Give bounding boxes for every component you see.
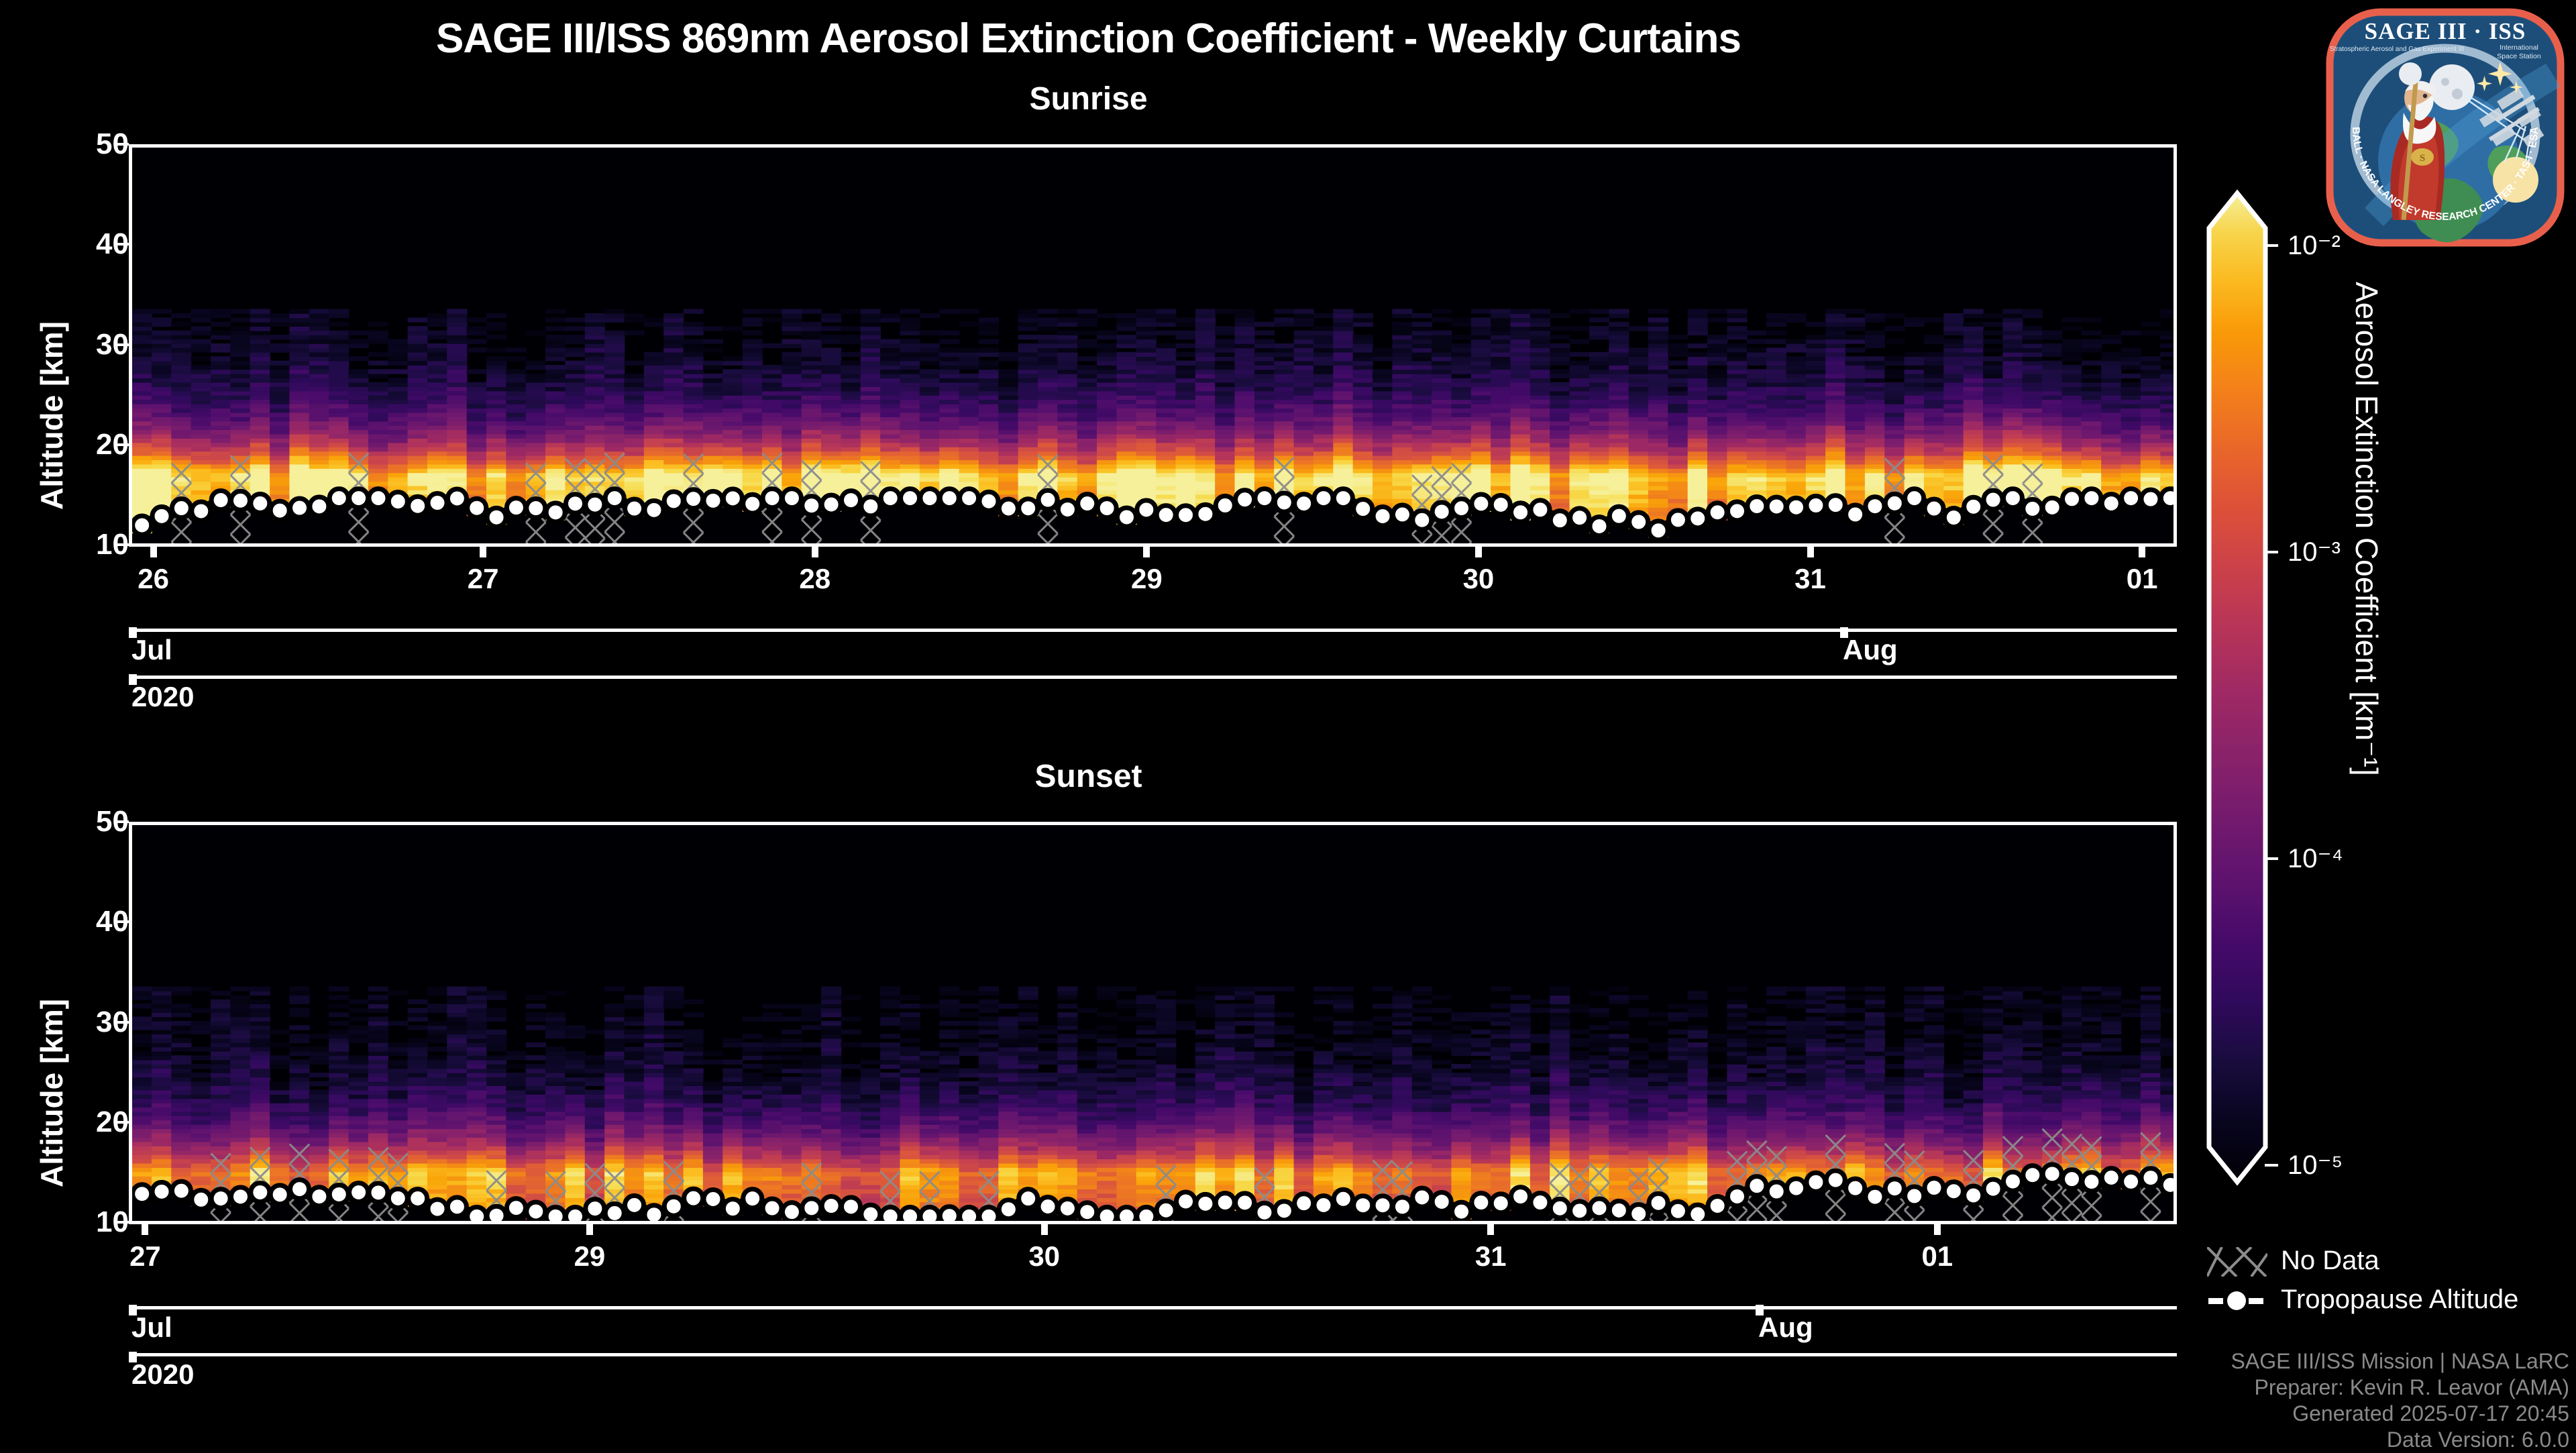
colorbar-tick-mark [2265, 857, 2278, 860]
y-tick-mark [117, 143, 129, 146]
y-tick-mark [117, 1221, 129, 1224]
footer-line-generated: Generated 2025-07-17 20:45 [1905, 1401, 2569, 1427]
x-tick-mark [1475, 547, 1482, 557]
footer-line-preparer: Preparer: Kevin R. Leavor (AMA) [1905, 1375, 2569, 1401]
footer-credits: SAGE III/ISS Mission | NASA LaRC Prepare… [1905, 1348, 2569, 1453]
colorbar-tick-mark [2265, 551, 2278, 553]
x-tick-label: 01 [2127, 563, 2158, 595]
year-band-line-sunset [129, 1353, 2177, 1356]
colorbar[interactable] [2204, 188, 2271, 1187]
month-band-line-sunrise [129, 629, 2177, 632]
x-tick-label: 27 [468, 563, 499, 595]
y-tick-mark [117, 1021, 129, 1024]
y-tick-label: 10 [11, 528, 129, 561]
panel-sunset: Sunset Altitude [km] 50 40 30 20 10 2729… [0, 758, 2177, 1429]
x-tick-label: 31 [1475, 1240, 1507, 1273]
colorbar-tick-mark [2265, 244, 2278, 247]
x-tick-mark [1041, 1224, 1048, 1235]
y-tick-label: 30 [11, 328, 129, 362]
tropopause-swatch-icon [2207, 1286, 2267, 1315]
no-data-swatch-icon [2207, 1247, 2267, 1277]
year-band-line-sunrise [129, 676, 2177, 679]
x-tick-mark [2139, 547, 2145, 557]
footer-line-mission: SAGE III/ISS Mission | NASA LaRC [1905, 1348, 2569, 1375]
x-tick-mark [586, 1224, 593, 1235]
panel-title-sunrise: Sunrise [0, 80, 2177, 117]
y-tick-label: 50 [11, 805, 129, 839]
panel-sunrise: Sunrise Altitude [km] 50 40 30 20 10 262… [0, 80, 2177, 751]
sage-iii-iss-mission-logo: S SAGE III · ISS Stratospheric Aerosol a… [2324, 7, 2566, 248]
y-tick-label: 10 [11, 1205, 129, 1239]
x-axis-sunrise: 26272829303101 Jul Aug 2020 [129, 547, 2177, 748]
colorbar-tick-mark [2265, 1164, 2278, 1167]
plot-area-sunrise[interactable] [129, 144, 2177, 547]
month-label-aug: Aug [1843, 634, 1898, 666]
y-tick-label: 20 [11, 1106, 129, 1139]
month-band-line-sunset [129, 1306, 2177, 1309]
x-tick-mark [142, 1224, 148, 1235]
y-tick-label: 50 [11, 127, 129, 161]
x-tick-label: 29 [574, 1240, 606, 1273]
y-tick-mark [117, 1121, 129, 1124]
month-label-aug: Aug [1758, 1311, 1813, 1344]
legend-label-no-data: No Data [2281, 1246, 2379, 1276]
y-tick-label: 40 [11, 227, 129, 261]
y-tick-mark [117, 243, 129, 246]
colorbar-tick-label: 10⁻⁵ [2288, 1150, 2343, 1181]
year-label: 2020 [131, 681, 194, 713]
colorbar-axis-label: Aerosol Extinction Coefficient [km⁻¹] [2349, 282, 2385, 776]
y-tick-label: 30 [11, 1006, 129, 1039]
footer-line-version: Data Version: 6.0.0 [1905, 1427, 2569, 1453]
y-tick-label: 20 [11, 428, 129, 462]
x-tick-mark [480, 547, 486, 557]
x-tick-label: 30 [1463, 563, 1495, 595]
x-tick-label: 01 [1921, 1240, 1953, 1273]
x-tick-mark [1143, 547, 1150, 557]
y-tick-label: 40 [11, 905, 129, 938]
panel-title-sunset: Sunset [0, 758, 2177, 795]
year-label: 2020 [131, 1358, 194, 1391]
y-ticks-sunset: 50 40 30 20 10 [0, 758, 129, 1429]
x-tick-mark [1934, 1224, 1941, 1235]
y-tick-mark [117, 920, 129, 923]
x-axis-sunset: 2729303101 Jul Aug 2020 [129, 1224, 2177, 1425]
y-tick-mark [117, 343, 129, 346]
x-tick-label: 31 [1794, 563, 1826, 595]
legend: No Data Tropopause Altitude [2207, 1244, 2576, 1325]
x-tick-label: 28 [799, 563, 830, 595]
month-label-jul: Jul [131, 634, 172, 666]
y-tick-mark [117, 820, 129, 823]
legend-label-tropopause: Tropopause Altitude [2281, 1285, 2518, 1315]
x-tick-mark [1807, 547, 1814, 557]
colorbar-tick-label: 10⁻³ [2288, 537, 2341, 568]
y-ticks-sunrise: 50 40 30 20 10 [0, 80, 129, 751]
x-tick-label: 30 [1028, 1240, 1060, 1273]
x-tick-mark [150, 547, 157, 557]
y-tick-mark [117, 543, 129, 546]
page-title: SAGE III/ISS 869nm Aerosol Extinction Co… [0, 15, 2177, 62]
x-tick-label: 27 [129, 1240, 161, 1273]
x-tick-label: 26 [138, 563, 169, 595]
plot-area-sunset[interactable] [129, 822, 2177, 1224]
x-tick-mark [1487, 1224, 1494, 1235]
y-tick-mark [117, 443, 129, 446]
month-label-jul: Jul [131, 1311, 172, 1344]
colorbar-tick-label: 10⁻⁴ [2288, 843, 2343, 874]
x-tick-label: 29 [1131, 563, 1163, 595]
x-tick-mark [812, 547, 818, 557]
